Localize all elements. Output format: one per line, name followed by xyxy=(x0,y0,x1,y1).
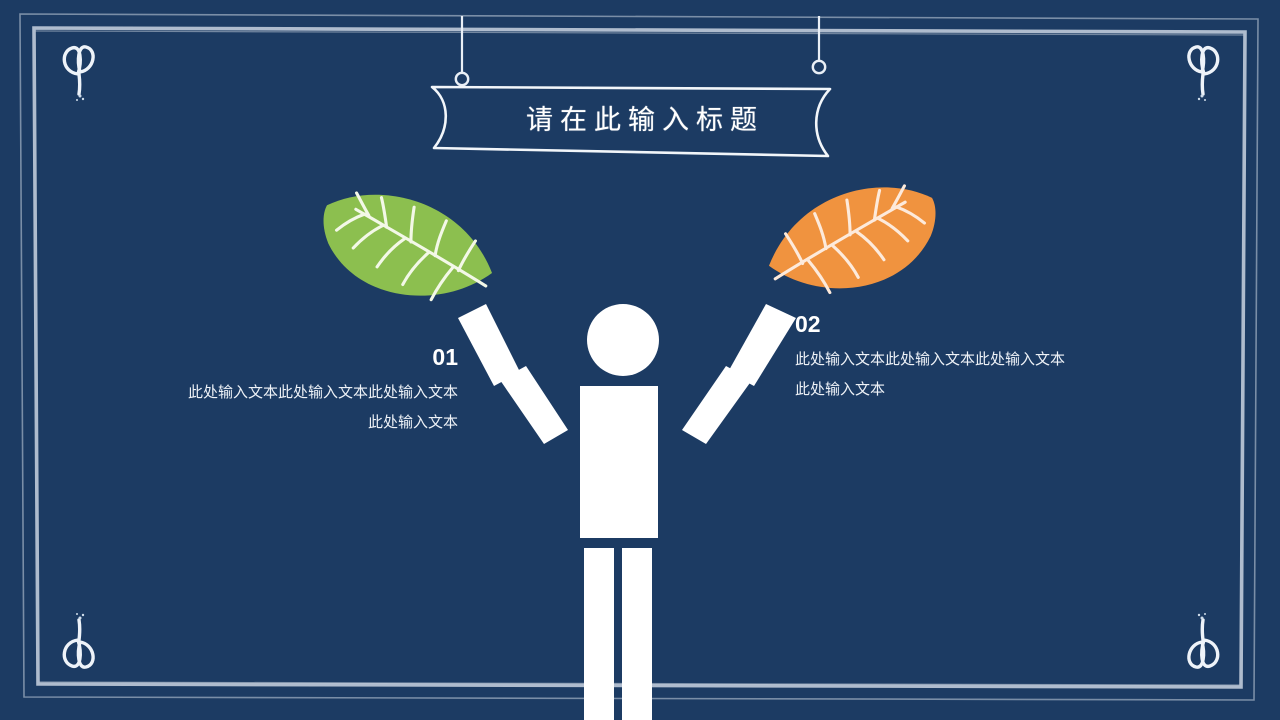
title-banner: 请在此输入标题 xyxy=(420,16,870,176)
figure-torso xyxy=(580,386,658,538)
figure-right-leg xyxy=(622,548,652,720)
page-title: 请在此输入标题 xyxy=(420,98,870,137)
content-block-02-text: 此处输入文本此处输入文本此处输入文本此处输入文本 xyxy=(795,346,1065,405)
banner-ring-left-icon xyxy=(456,73,468,85)
stick-figure-person xyxy=(448,290,838,720)
title-banner-shape xyxy=(420,16,870,176)
figure-head xyxy=(587,304,659,376)
content-block-01-number: 01 xyxy=(188,345,458,370)
figure-left-leg xyxy=(584,548,614,720)
sprout-doodle-bottom-right-icon xyxy=(1162,612,1234,684)
sprout-doodle-top-left-icon xyxy=(48,30,120,102)
content-block-01-text: 此处输入文本此处输入文本此处输入文本此处输入文本 xyxy=(188,379,458,438)
content-block-02: 02 此处输入文本此处输入文本此处输入文本此处输入文本 xyxy=(795,312,1065,405)
sprout-doodle-top-right-icon xyxy=(1162,30,1234,102)
content-block-01: 01 此处输入文本此处输入文本此处输入文本此处输入文本 xyxy=(188,345,458,438)
right-arm xyxy=(682,304,796,444)
left-arm xyxy=(458,304,568,444)
sprout-doodle-bottom-left-icon xyxy=(48,612,120,684)
content-block-02-number: 02 xyxy=(795,312,1065,337)
banner-ring-right-icon xyxy=(813,61,825,73)
slide-canvas: 请在此输入标题 xyxy=(0,0,1280,720)
